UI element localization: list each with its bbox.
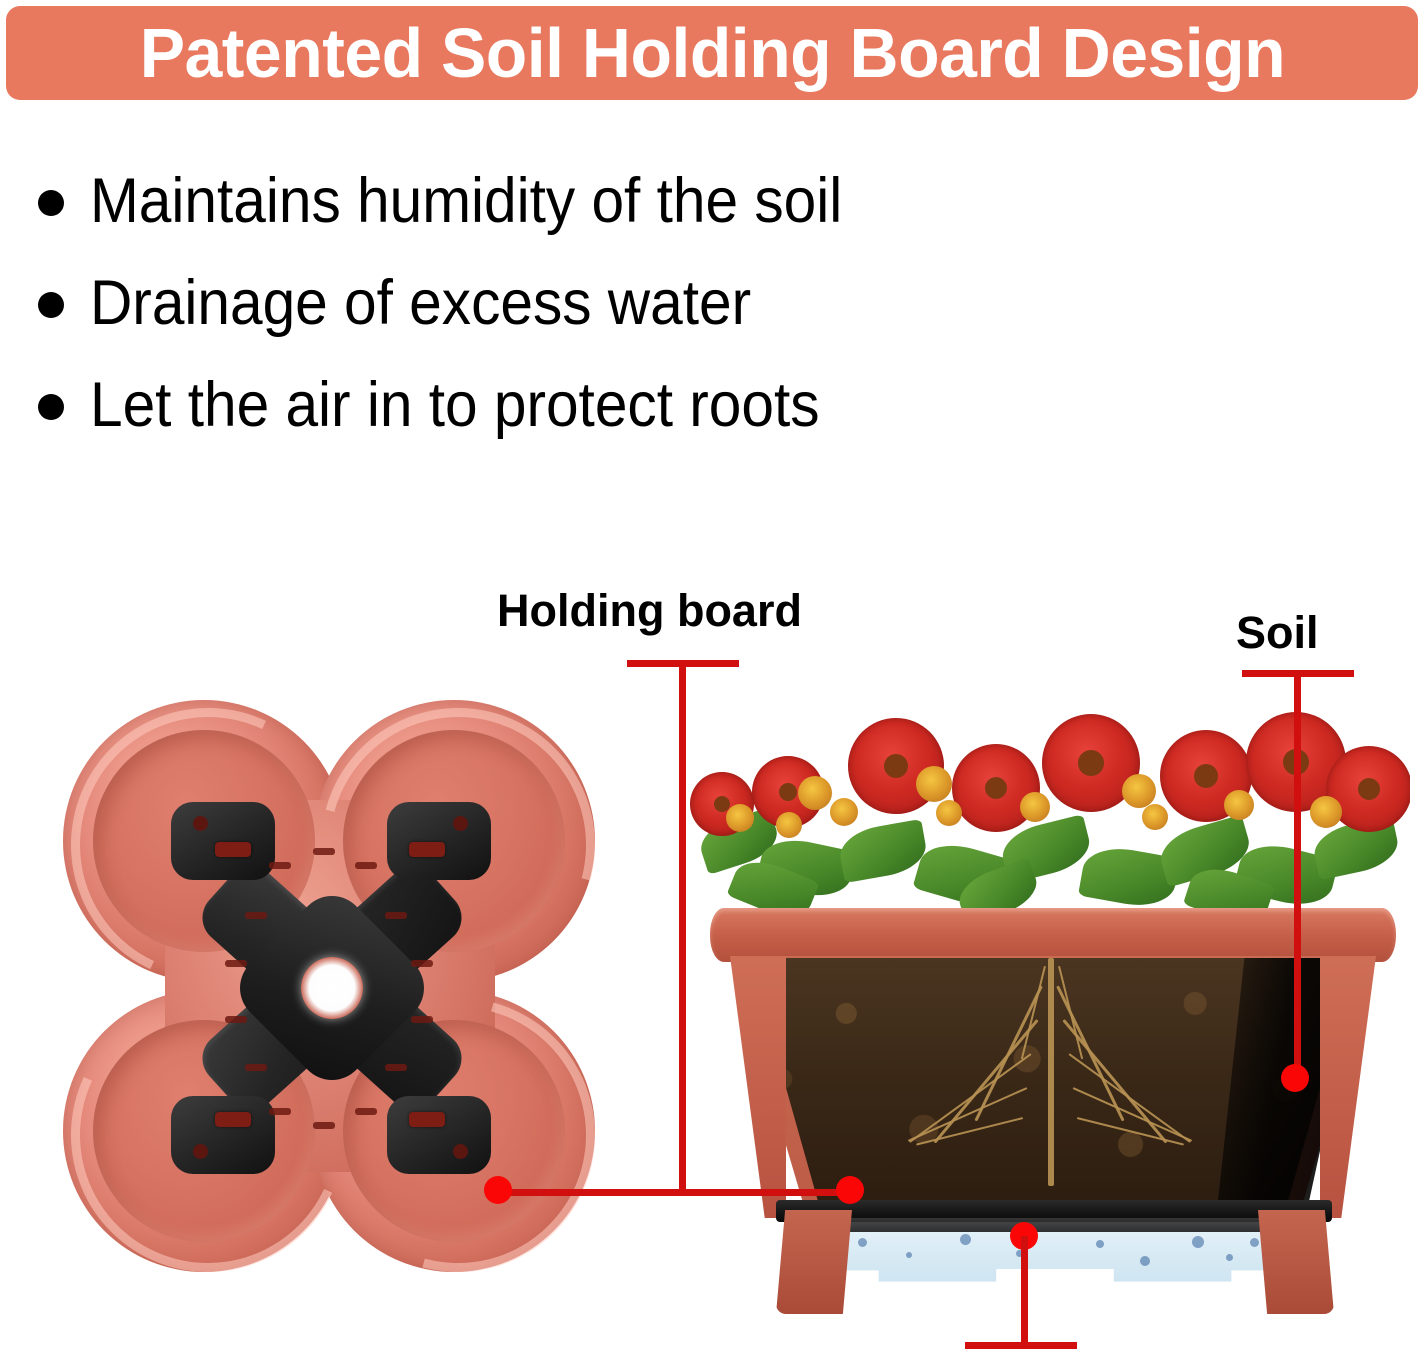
flower-foliage [690, 700, 1410, 922]
board-screw-hole [453, 816, 468, 831]
pot-foot [776, 1210, 852, 1314]
water-bubble [906, 1252, 912, 1258]
board-screw-hole [193, 816, 208, 831]
board-corner-pad [171, 1096, 275, 1174]
feature-bullet-list: Maintains humidity of the soil Drainage … [38, 150, 1138, 456]
root [1073, 1087, 1193, 1142]
vent-slit [385, 912, 407, 919]
vent-slit [245, 912, 267, 919]
vent-slit [313, 848, 335, 855]
leader-line-horizontal [497, 1189, 852, 1196]
water-bubble [1192, 1236, 1204, 1248]
vent-slit [269, 862, 291, 869]
pot-foot [1258, 1210, 1334, 1314]
flower-bud [776, 812, 802, 838]
water-bubble [1250, 1238, 1259, 1247]
root [1021, 966, 1046, 1060]
leader-line-vertical [1294, 670, 1301, 1070]
water-bubble [960, 1234, 971, 1245]
vent-slit [245, 1064, 267, 1071]
vent-slit [411, 960, 433, 967]
root [908, 1087, 1028, 1142]
board-screw-hole [453, 1144, 468, 1159]
bullet-dot-icon [38, 394, 64, 420]
drain-hole [301, 957, 363, 1019]
flower-bud [1020, 792, 1050, 822]
bullet-dot-icon [38, 190, 64, 216]
flower-bud [1224, 790, 1254, 820]
leader-line-horizontal [965, 1342, 1077, 1349]
board-slot [215, 842, 251, 857]
water-bubble [858, 1238, 867, 1247]
board-slot [409, 842, 445, 857]
vent-slit [269, 1108, 291, 1115]
callout-label-soil: Soil [1236, 608, 1319, 658]
bullet-text: Let the air in to protect roots [90, 372, 820, 438]
flower-bud [1122, 774, 1156, 808]
root [1048, 958, 1054, 1186]
list-item: Maintains humidity of the soil [38, 150, 1138, 252]
plant-roots [730, 958, 1376, 1210]
callout-marker-holding-board-right [836, 1176, 864, 1204]
root [934, 1019, 1039, 1143]
vent-slit [225, 960, 247, 967]
header-banner: Patented Soil Holding Board Design [6, 6, 1418, 100]
product-diagram: Holding board Soil Water [0, 560, 1424, 1368]
board-corner-pad [387, 802, 491, 880]
board-corner-pad [387, 1096, 491, 1174]
board-corner-pad [171, 802, 275, 880]
board-screw-hole [193, 1144, 208, 1159]
vent-slit [355, 862, 377, 869]
water-bubble [1226, 1254, 1233, 1261]
leader-line-vertical [679, 660, 686, 1192]
vent-slit [225, 1016, 247, 1023]
root [1058, 966, 1083, 1060]
callout-marker-soil [1281, 1064, 1309, 1092]
soil-holding-board [173, 808, 491, 1168]
vent-slit [355, 1108, 377, 1115]
vent-slit [411, 1016, 433, 1023]
flower-bud [798, 776, 832, 810]
flower-bud [916, 766, 952, 802]
bullet-dot-icon [38, 292, 64, 318]
board-slot [215, 1112, 251, 1127]
board-slot [409, 1112, 445, 1127]
bullet-text: Maintains humidity of the soil [90, 168, 842, 234]
vent-slit [313, 1122, 335, 1129]
top-down-clover-planter [45, 690, 615, 1290]
flower-bud [1142, 804, 1168, 830]
callout-marker-holding-board-left [484, 1176, 512, 1204]
list-item: Drainage of excess water [38, 252, 1138, 354]
vent-slit [385, 1064, 407, 1071]
leader-line-vertical [1021, 1236, 1028, 1346]
water-bubble [1140, 1256, 1150, 1266]
list-item: Let the air in to protect roots [38, 354, 1138, 456]
flower-bud [726, 804, 754, 832]
water-bubble [1096, 1240, 1104, 1248]
holding-board-lip [800, 1218, 1308, 1232]
flower-bud [1310, 796, 1342, 828]
callout-label-holding-board: Holding board [497, 586, 802, 636]
flower-bud [936, 800, 962, 826]
infographic-page: Patented Soil Holding Board Design Maint… [0, 0, 1424, 1368]
bullet-text: Drainage of excess water [90, 270, 751, 336]
flower-bud [830, 798, 858, 826]
page-title: Patented Soil Holding Board Design [139, 17, 1284, 89]
pot-cross-section [690, 700, 1410, 1320]
